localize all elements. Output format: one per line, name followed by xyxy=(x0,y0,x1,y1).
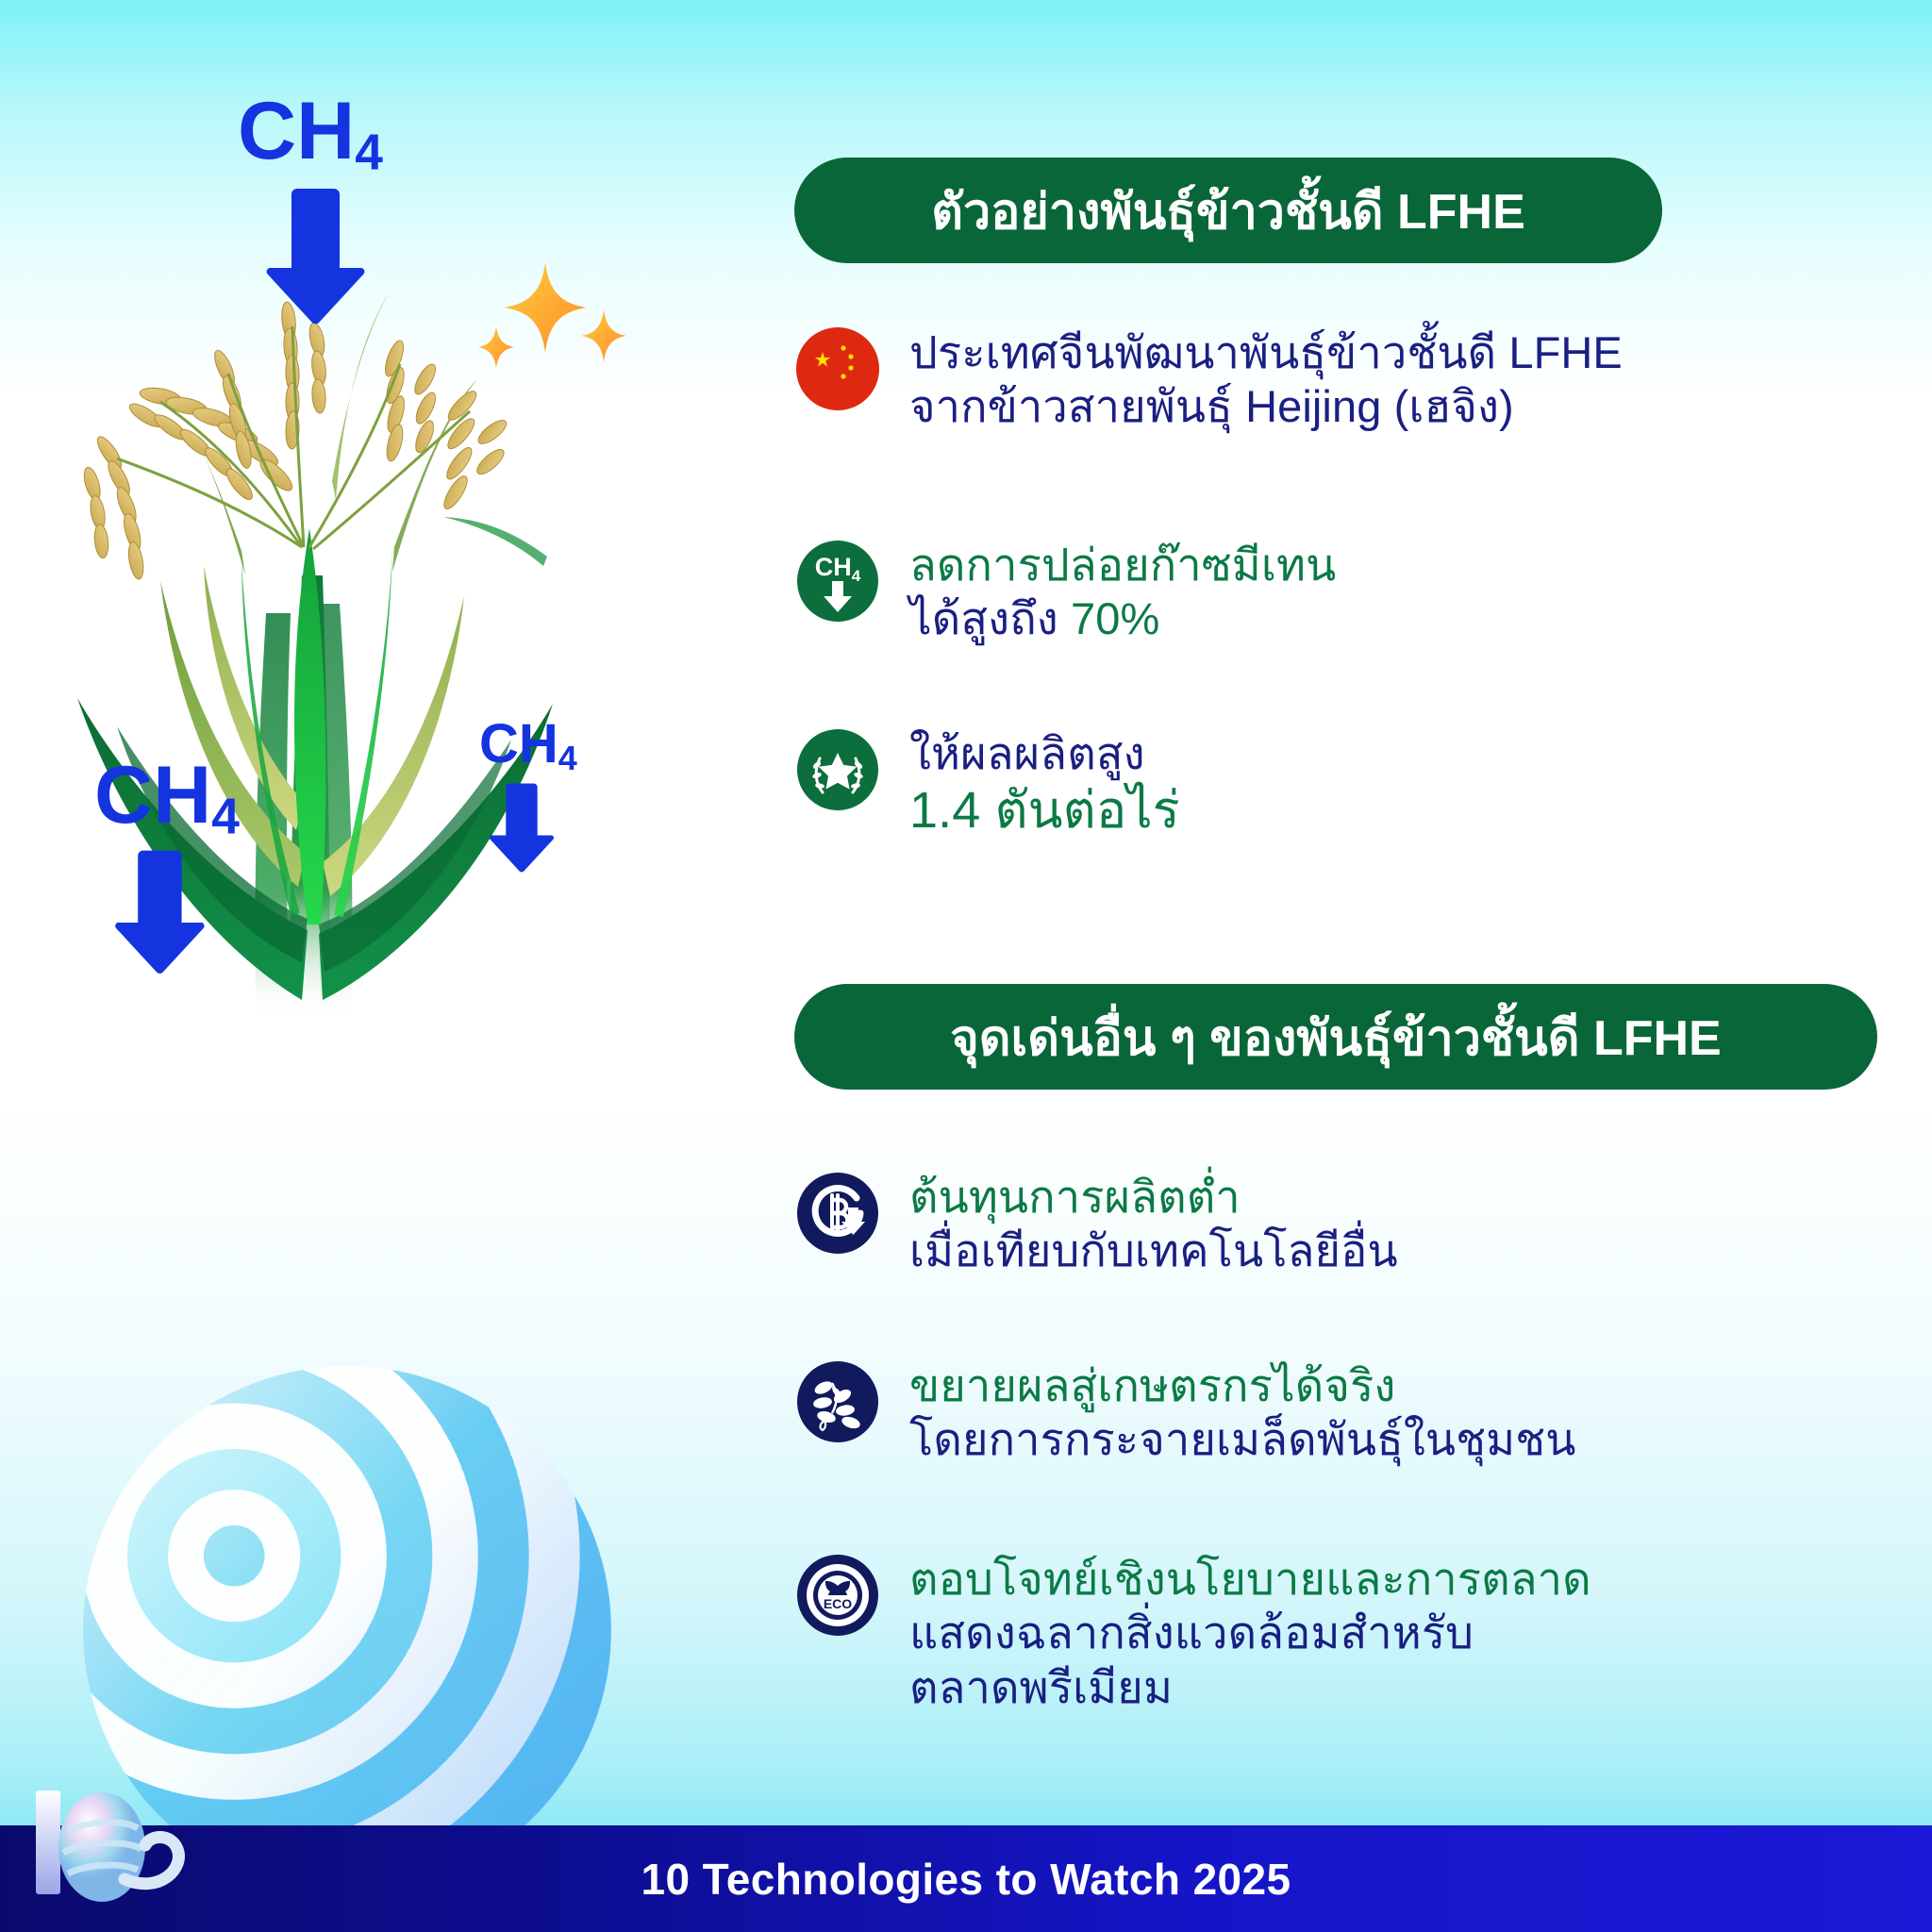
ch4-text: CH xyxy=(479,713,558,774)
bullet-text: ลดการปล่อยก๊าซมีเทน ได้สูงถึง 70% xyxy=(909,538,1336,646)
infographic-poster: CH4 CH4 CH4 ตัวอย่างพันธุ์ข้าวชั้นดี LFH… xyxy=(0,0,1932,1932)
baht-cost-down-icon xyxy=(794,1170,881,1261)
bullet-line-2: โดยการกระจายเมล็ดพันธุ์ในชุมชน xyxy=(909,1412,1575,1466)
bullet-line-2: เมื่อเทียบกับเทคโนโลยีอื่น xyxy=(909,1224,1398,1277)
rice-seed-icon xyxy=(794,1358,881,1450)
ch4-text: CH xyxy=(238,86,355,176)
bullet-line-1: ขยายผลสู่เกษตรกรได้จริง xyxy=(909,1358,1575,1412)
bullet-line-2: 1.4 ตันต่อไร่ xyxy=(909,780,1180,842)
bullet-methane-reduction: CH4 ลดการปล่อยก๊าซมีเทน ได้สูงถึง 70% xyxy=(794,538,1336,646)
bullet-text: ต้นทุนการผลิตต่ำ เมื่อเทียบกับเทคโนโลยีอ… xyxy=(909,1170,1398,1278)
ch4-arrow-bottom-left-icon xyxy=(111,849,206,976)
ch4-arrow-bottom-right-icon xyxy=(487,783,555,874)
methane-reduction-icon: CH4 xyxy=(794,538,881,629)
bullet-line-1: ให้ผลผลิตสูง xyxy=(909,726,1180,780)
bullet-line-1: ตอบโจทย์เชิงนโยบายและการตลาด xyxy=(909,1552,1591,1606)
bullet-line-2a: ได้สูงถึง xyxy=(909,593,1071,643)
footer-title: 10 Technologies to Watch 2025 xyxy=(641,1854,1291,1905)
bullet-text: ตอบโจทย์เชิงนโยบายและการตลาด แสดงฉลากสิ่… xyxy=(909,1552,1591,1714)
bullet-line-2: แสดงฉลากสิ่งแวดล้อมสำหรับ xyxy=(909,1606,1591,1659)
ch4-subscript: 4 xyxy=(211,790,240,845)
bullet-seed-distribution: ขยายผลสู่เกษตรกรได้จริง โดยการกระจายเมล็… xyxy=(794,1358,1575,1467)
bullet-line-1: ลดการปล่อยก๊าซมีเทน xyxy=(909,538,1336,591)
ch4-label-bottom-right: CH4 xyxy=(479,717,577,775)
bullet-line-1: ต้นทุนการผลิตต่ำ xyxy=(909,1170,1398,1224)
ten-technologies-logo xyxy=(19,1774,302,1932)
bullet-line-2b: 70% xyxy=(1071,593,1159,643)
china-flag-icon xyxy=(794,325,881,417)
bullet-text: ประเทศจีนพัฒนาพันธุ์ข้าวชั้นดี LFHE จากข… xyxy=(909,325,1623,434)
ch4-subscript: 4 xyxy=(355,125,383,181)
eco-text: ECO xyxy=(824,1596,852,1611)
ch4-label-top: CH4 xyxy=(238,91,383,178)
bullet-eco-label: ECO ตอบโจทย์เชิงนโยบายและการตลาด แสดงฉลา… xyxy=(794,1552,1591,1714)
ch4-label-bottom-left: CH4 xyxy=(94,755,240,842)
award-star-icon xyxy=(794,726,881,818)
eco-label-icon: ECO xyxy=(794,1552,881,1643)
ch4-arrow-top-icon xyxy=(262,189,366,325)
ch4-text: CH xyxy=(94,750,211,841)
bullet-line-3: ตลาดพรีเมียม xyxy=(909,1660,1591,1714)
bullet-low-cost: ต้นทุนการผลิตต่ำ เมื่อเทียบกับเทคโนโลยีอ… xyxy=(794,1170,1398,1278)
content-column: ตัวอย่างพันธุ์ข้าวชั้นดี LFHE ประเทศจีน xyxy=(791,0,1913,1792)
sparkle-decoration xyxy=(472,255,641,387)
banner-title-1: ตัวอย่างพันธุ์ข้าวชั้นดี LFHE xyxy=(931,172,1525,250)
section-banner-highlights: จุดเด่นอื่น ๆ ของพันธุ์ข้าวชั้นดี LFHE xyxy=(794,984,1877,1090)
banner-title-2: จุดเด่นอื่น ๆ ของพันธุ์ข้าวชั้นดี LFHE xyxy=(950,998,1721,1076)
section-banner-variety: ตัวอย่างพันธุ์ข้าวชั้นดี LFHE xyxy=(794,158,1662,263)
bullet-line-2: จากข้าวสายพันธุ์ Heijing (เฮจิง) xyxy=(909,379,1623,433)
bullet-line-2: ได้สูงถึง 70% xyxy=(909,591,1336,645)
ch4-subscript: 4 xyxy=(558,739,577,777)
bullet-text: ขยายผลสู่เกษตรกรได้จริง โดยการกระจายเมล็… xyxy=(909,1358,1575,1467)
bullet-text: ให้ผลผลิตสูง 1.4 ตันต่อไร่ xyxy=(909,726,1180,842)
bullet-line-1: ประเทศจีนพัฒนาพันธุ์ข้าวชั้นดี LFHE xyxy=(909,325,1623,379)
bullet-china-variety: ประเทศจีนพัฒนาพันธุ์ข้าวชั้นดี LFHE จากข… xyxy=(794,325,1623,434)
bullet-high-yield: ให้ผลผลิตสูง 1.4 ตันต่อไร่ xyxy=(794,726,1180,842)
